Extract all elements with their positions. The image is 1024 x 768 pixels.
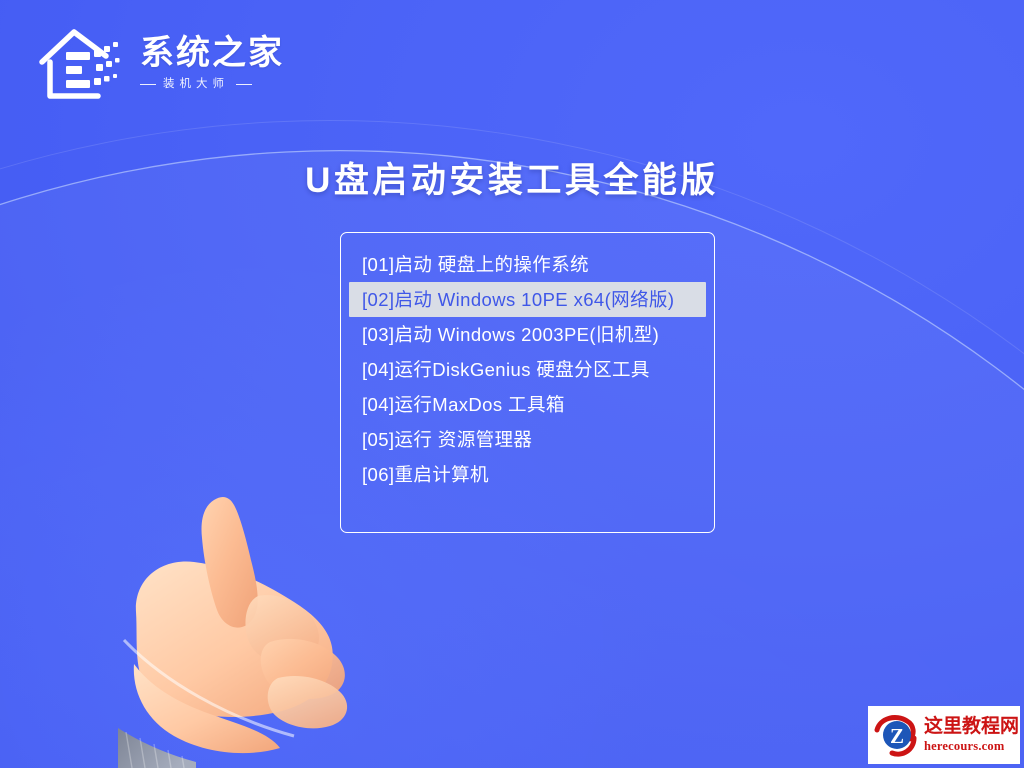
menu-item[interactable]: [01]启动 硬盘上的操作系统 [349,247,706,282]
menu-item[interactable]: [03]启动 Windows 2003PE(旧机型) [349,317,706,352]
brand-name: 系统之家 [140,36,284,72]
svg-text:Z: Z [890,724,904,748]
brand-logo: 系统之家 装机大师 [38,16,278,108]
watermark-text: 这里教程网 herecours.com [924,717,1019,753]
boot-menu-list[interactable]: [01]启动 硬盘上的操作系统 [02]启动 Windows 10PE x64(… [341,247,714,492]
watermark-badge-icon: Z [874,712,920,758]
watermark: Z 这里教程网 herecours.com [868,706,1020,764]
page-title: U盘启动安装工具全能版 [0,152,1024,203]
boot-menu-screen: 系统之家 装机大师 U盘启动安装工具全能版 [01]启动 硬盘上的操作系统 [0… [0,0,1024,768]
menu-item-selected[interactable]: [02]启动 Windows 10PE x64(网络版) [349,282,706,317]
watermark-site-name: 这里教程网 [924,717,1019,736]
watermark-site-url: herecours.com [924,740,1019,753]
tagline-dash-right [236,84,252,86]
brand-tagline: 装机大师 [163,75,229,91]
house-pixel-logo-icon [38,22,130,102]
menu-item[interactable]: [06]重启计算机 [349,457,706,492]
menu-item[interactable]: [04]运行MaxDos 工具箱 [349,387,706,422]
brand-tagline-row: 装机大师 [140,76,284,92]
boot-menu-panel: [01]启动 硬盘上的操作系统 [02]启动 Windows 10PE x64(… [340,232,715,533]
tagline-dash-left [140,84,156,86]
menu-item[interactable]: [05]运行 资源管理器 [349,422,706,457]
menu-item[interactable]: [04]运行DiskGenius 硬盘分区工具 [349,352,706,387]
